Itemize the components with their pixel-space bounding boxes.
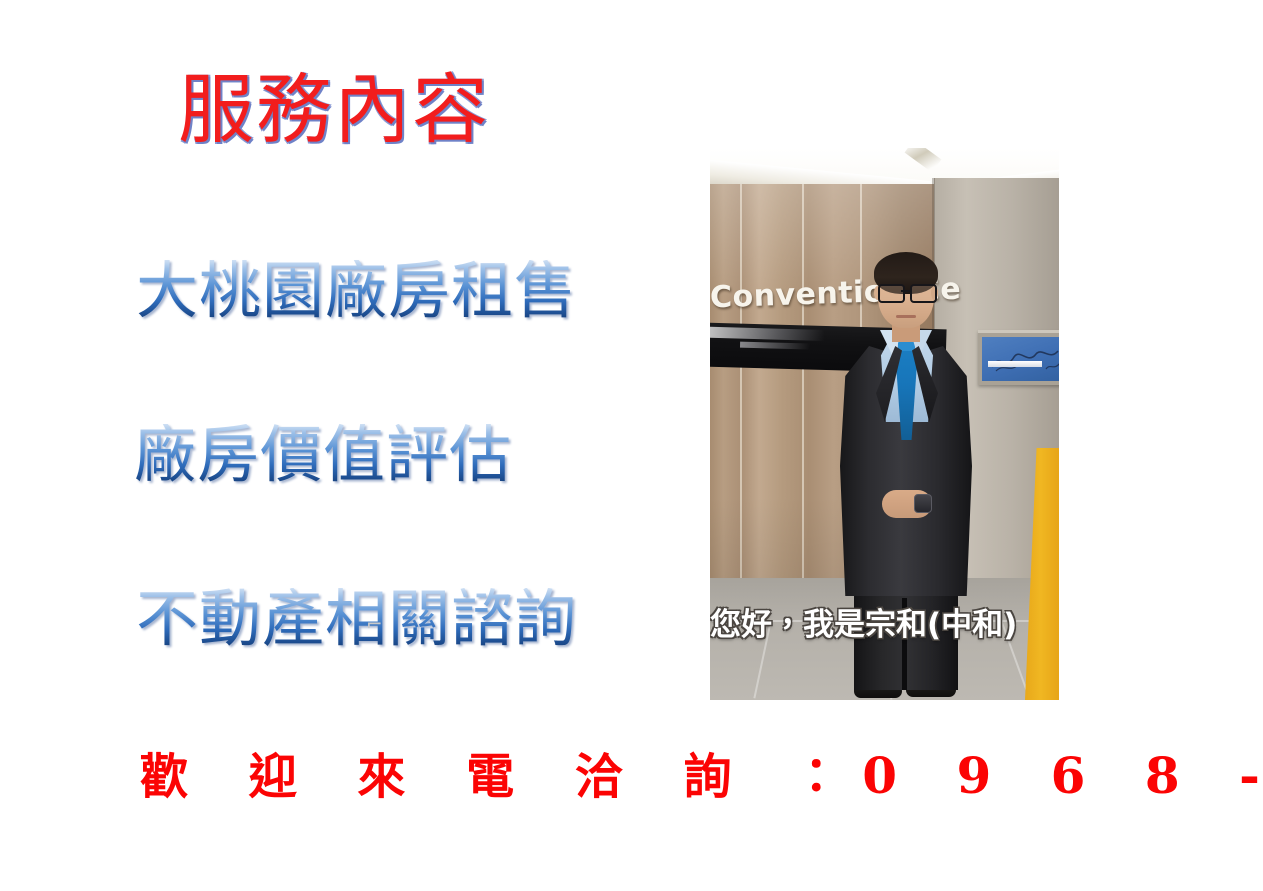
eyeglass-bridge (901, 290, 910, 292)
service-item-2: 廠房價值評估 (134, 424, 512, 486)
eyeglass-lens-left (878, 284, 905, 303)
counter-highlight (710, 327, 825, 341)
eyeglasses-icon (878, 284, 935, 299)
wrist-watch (914, 494, 932, 513)
contact-prefix: 歡 迎 來 電 洽 詢 ： (140, 749, 862, 805)
poster-scribble-icon (988, 345, 1059, 375)
photo-caption: 您好，我是宗和(中和) (710, 608, 1059, 642)
mouth (896, 315, 916, 318)
profile-photo: Convention Ce (710, 148, 1059, 700)
poster-highlight-bar (988, 361, 1042, 367)
service-item-3: 不動產相關諮詢 (136, 588, 577, 650)
contact-phone-number: 0 9 6 8 - 5 1 9 - 8 8 8 (862, 746, 1263, 805)
blue-poster (982, 337, 1059, 381)
service-item-1: 大桃園廠房租售 (136, 260, 577, 322)
page-title: 服務內容 (178, 72, 490, 148)
blue-poster-frame (978, 330, 1059, 385)
faint-artifact-mark: ⌐ (366, 612, 384, 636)
contact-line: 歡 迎 來 電 洽 詢 ：0 9 6 8 - 5 1 9 - 8 8 8 (140, 748, 1263, 804)
slide-canvas: 服務內容 大桃園廠房租售 廠房價值評估 不動產相關諮詢 ⌐ (0, 0, 1263, 891)
eyeglass-lens-right (910, 284, 937, 303)
ceiling-light-fixture (905, 148, 942, 172)
counter-highlight (740, 342, 810, 350)
